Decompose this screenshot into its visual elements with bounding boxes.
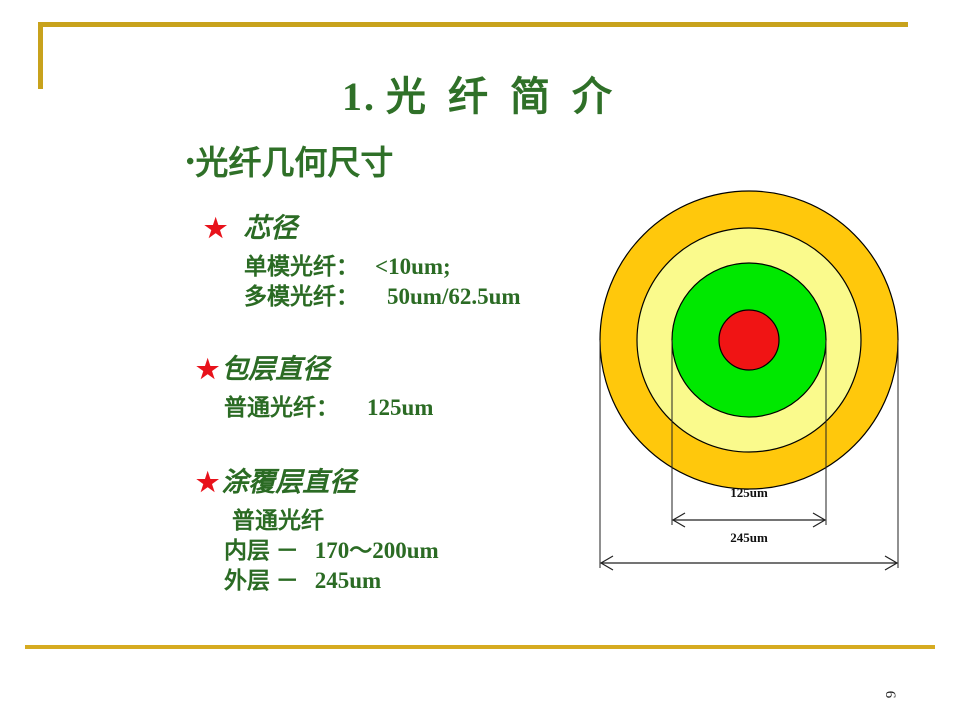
group-cladding-diameter: ★包层直径 普通光纤：125um xyxy=(196,355,433,423)
group-heading-core-label: 芯径 xyxy=(243,213,297,243)
page-number: 9 xyxy=(883,691,900,699)
line-single-mode-value: <10um; xyxy=(375,254,451,279)
line-single-mode-fiber: 单模光纤：<10um; xyxy=(204,252,521,282)
lead-bullet-label: 光纤几何尺寸 xyxy=(195,146,393,182)
frame-top-horizontal-rule xyxy=(38,22,908,27)
group-core-diameter: ★芯径 单模光纤：<10um; 多模光纤：50um/62.5um xyxy=(204,214,521,312)
line-inner-coating-label: 内层 － xyxy=(224,538,299,563)
group-heading-coating: ★涂覆层直径 xyxy=(196,468,439,498)
group-coating-diameter: ★涂覆层直径 普通光纤 内层 －170～200um 外层 －245um xyxy=(196,468,439,597)
star-icon: ★ xyxy=(204,214,227,243)
line-multi-mode-fiber: 多模光纤：50um/62.5um xyxy=(204,282,521,312)
line-outer-coating-label: 外层 － xyxy=(224,568,299,593)
line-multi-mode-label: 多模光纤： xyxy=(244,284,359,309)
star-icon: ★ xyxy=(196,355,219,384)
line-inner-coating: 内层 －170～200um xyxy=(196,536,439,566)
dimension-label-coating: 245um xyxy=(730,530,768,545)
group-heading-cladding: ★包层直径 xyxy=(196,355,433,385)
slide-title-text: 光 纤 简 介 xyxy=(386,74,618,119)
line-standard-fiber-value: 125um xyxy=(367,395,433,420)
bullet-dot-icon: • xyxy=(186,149,194,175)
line-single-mode-label: 单模光纤： xyxy=(244,254,359,279)
line-inner-coating-value: 170～200um xyxy=(315,538,439,563)
slide-canvas: 1.光 纤 简 介 •光纤几何尺寸 ★芯径 单模光纤：<10um; 多模光纤：5… xyxy=(0,0,960,720)
line-standard-fiber-coating: 普通光纤 xyxy=(196,506,439,536)
slide-title-number: 1. xyxy=(342,74,376,119)
dimension-label-cladding: 125um xyxy=(730,485,768,500)
lead-bullet-item: •光纤几何尺寸 xyxy=(186,136,393,184)
line-multi-mode-value: 50um/62.5um xyxy=(387,284,521,309)
line-standard-fiber-cladding: 普通光纤：125um xyxy=(196,393,433,423)
slide-title: 1.光 纤 简 介 xyxy=(0,64,960,122)
line-outer-coating-value: 245um xyxy=(315,568,381,593)
star-icon: ★ xyxy=(196,468,219,497)
core-layer xyxy=(719,310,779,370)
group-heading-core: ★芯径 xyxy=(204,214,521,244)
optical-fiber-cross-section-diagram: 125um 245um xyxy=(580,180,920,590)
frame-bottom-horizontal-rule xyxy=(25,645,935,649)
line-standard-fiber-coating-label: 普通光纤 xyxy=(232,508,324,533)
line-outer-coating: 外层 －245um xyxy=(196,566,439,596)
line-standard-fiber-label: 普通光纤： xyxy=(224,395,339,420)
group-heading-coating-label: 涂覆层直径 xyxy=(221,467,356,497)
group-heading-cladding-label: 包层直径 xyxy=(221,354,329,384)
